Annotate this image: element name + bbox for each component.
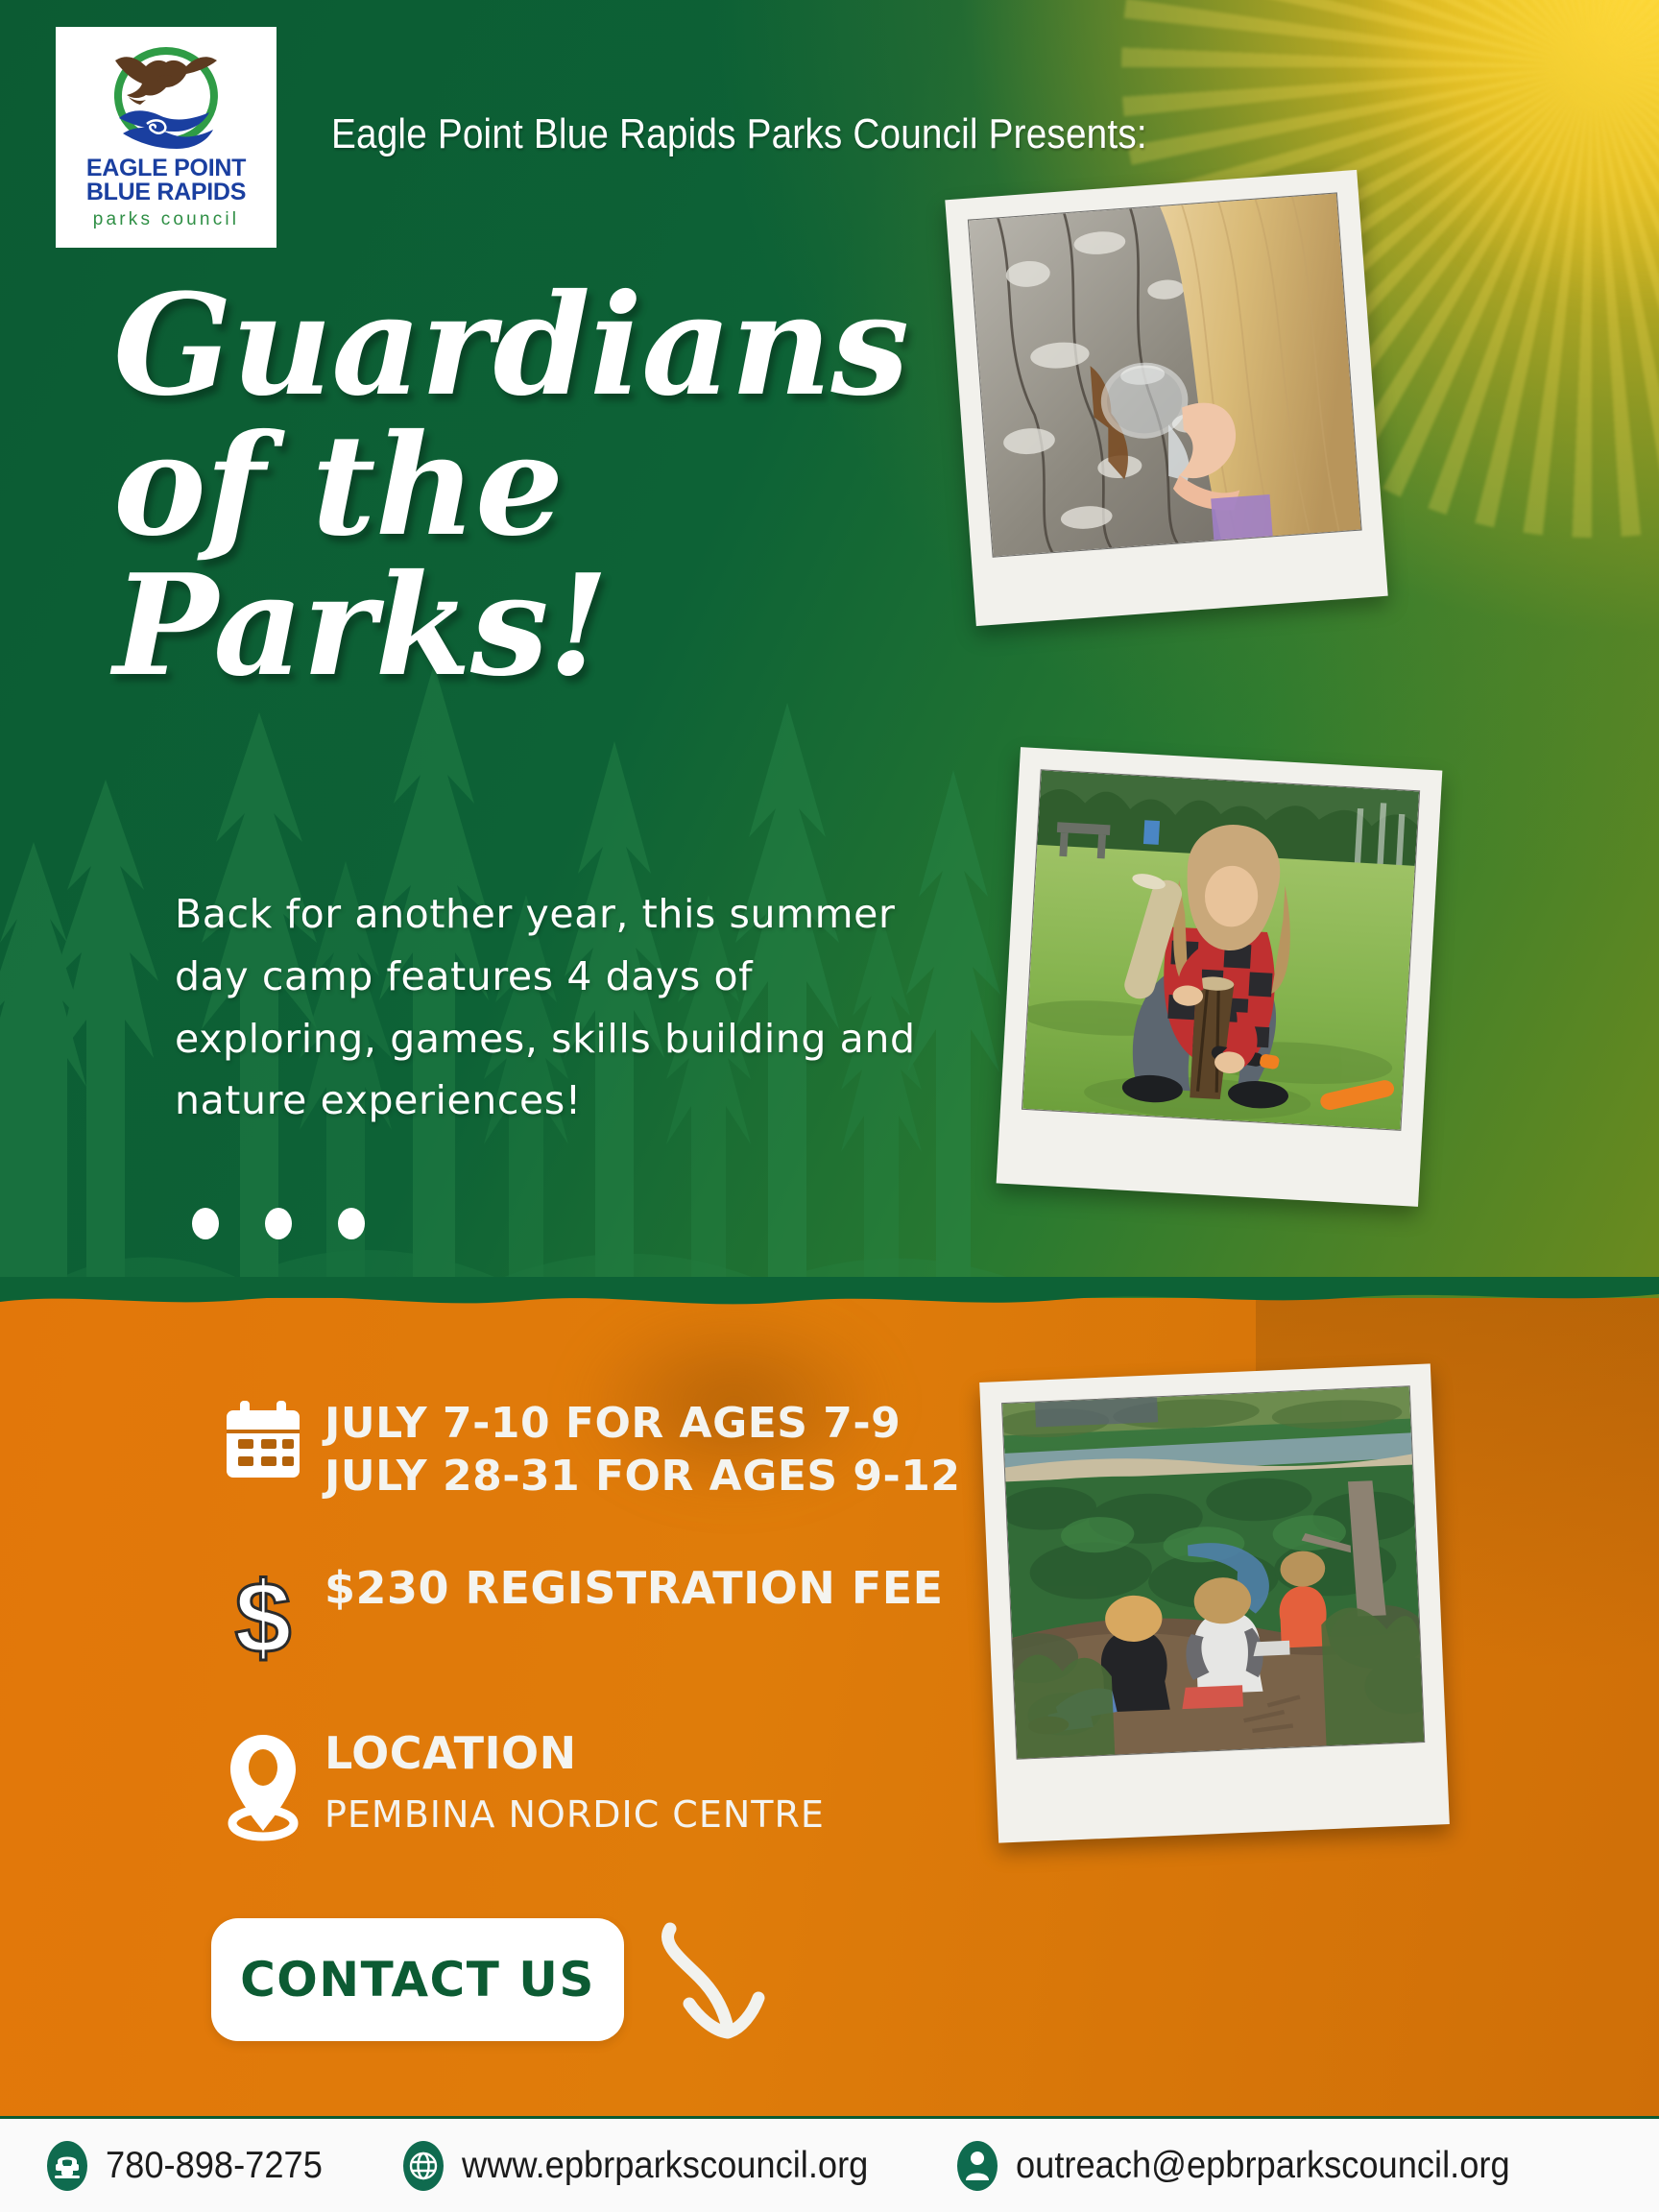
dollar-icon-wrap: $ xyxy=(219,1566,325,1671)
photo-magnifying-glass-on-bark xyxy=(968,192,1362,557)
camp-details-list: JULY 7-10 FOR AGES 7-9 JULY 28-31 FOR AG… xyxy=(219,1397,987,1844)
detail-row-fee: $ $230 REGISTRATION FEE xyxy=(219,1566,987,1671)
contact-us-button[interactable]: CONTACT US xyxy=(211,1918,624,2041)
dates-text-block: JULY 7-10 FOR AGES 7-9 JULY 28-31 FOR AG… xyxy=(325,1397,961,1503)
svg-text:$: $ xyxy=(235,1566,292,1671)
calendar-icon-wrap xyxy=(219,1397,325,1485)
footer-phone[interactable]: 780-898-7275 xyxy=(46,2140,339,2192)
telephone-icon xyxy=(46,2140,88,2192)
dollar-sign-icon: $ xyxy=(219,1566,307,1671)
logo-name-line2: BLUE RAPIDS xyxy=(86,180,246,204)
footer-email-text: outreach@epbrparkscouncil.org xyxy=(1016,2145,1510,2187)
title-line-2: of the xyxy=(113,421,958,553)
sun-glow xyxy=(1352,0,1659,307)
detail-row-dates: JULY 7-10 FOR AGES 7-9 JULY 28-31 FOR AG… xyxy=(219,1397,987,1503)
photo-card-magnifying-glass xyxy=(945,170,1387,626)
map-pin-icon-wrap xyxy=(219,1731,325,1844)
location-text-block: LOCATION PEMBINA NORDIC CENTRE xyxy=(325,1731,825,1833)
person-icon xyxy=(956,2140,998,2192)
organization-logo: EAGLE POINT BLUE RAPIDS parks council xyxy=(56,27,276,248)
logo-tagline: parks council xyxy=(93,209,239,230)
title-line-3: Parks! xyxy=(113,561,958,693)
photo-card-log-splitting xyxy=(997,747,1443,1207)
detail-row-location: LOCATION PEMBINA NORDIC CENTRE xyxy=(219,1731,987,1844)
contact-us-label: CONTACT US xyxy=(240,1952,595,2008)
page-title: Guardians of the Parks! xyxy=(113,280,958,692)
photo-card-valley-lookout xyxy=(979,1363,1450,1842)
footer-website-text: www.epbrparkscouncil.org xyxy=(462,2145,868,2187)
fee-text: $230 REGISTRATION FEE xyxy=(325,1566,944,1610)
globe-icon xyxy=(402,2140,445,2192)
footer-contact-bar: 780-898-7275 www.epbrparkscouncil.org ou… xyxy=(0,2116,1659,2212)
calendar-icon xyxy=(219,1397,307,1485)
location-label: LOCATION xyxy=(325,1731,825,1775)
decorative-dots xyxy=(192,1208,365,1239)
map-pin-icon xyxy=(219,1731,307,1844)
dates-line-2: JULY 28-31 FOR AGES 9-12 xyxy=(325,1450,961,1503)
title-line-1: Guardians xyxy=(113,280,958,413)
dot-3 xyxy=(338,1208,365,1239)
dot-1 xyxy=(192,1208,219,1239)
curved-down-arrow-icon xyxy=(653,1915,778,2059)
presents-line: Eagle Point Blue Rapids Parks Council Pr… xyxy=(331,110,1147,158)
logo-name-line1: EAGLE POINT xyxy=(86,156,246,180)
intro-paragraph: Back for another year, this summer day c… xyxy=(175,883,933,1132)
footer-website[interactable]: www.epbrparkscouncil.org xyxy=(402,2140,899,2192)
eagle-over-water-in-green-circle-icon xyxy=(94,43,238,156)
dot-2 xyxy=(265,1208,292,1239)
location-value: PEMBINA NORDIC CENTRE xyxy=(325,1796,825,1833)
photo-children-on-lookout xyxy=(1001,1385,1425,1760)
photo-child-splitting-log xyxy=(1022,769,1420,1131)
footer-email[interactable]: outreach@epbrparkscouncil.org xyxy=(956,2140,1547,2192)
poster-canvas: EAGLE POINT BLUE RAPIDS parks council Ea… xyxy=(0,0,1659,2212)
footer-phone-text: 780-898-7275 xyxy=(106,2145,323,2187)
dates-line-1: JULY 7-10 FOR AGES 7-9 xyxy=(325,1397,961,1450)
